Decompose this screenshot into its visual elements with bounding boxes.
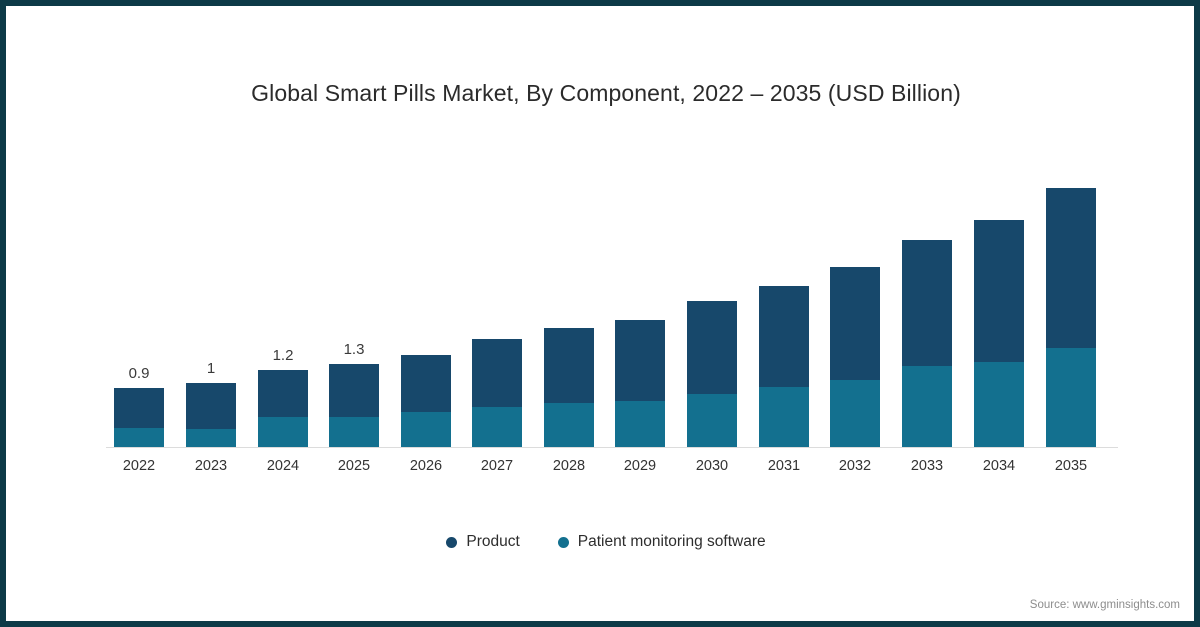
x-tick-label-2024: 2024: [247, 458, 319, 474]
bar-segment-patient-monitoring-software[interactable]: [1046, 348, 1096, 448]
stacked-bar[interactable]: [329, 364, 379, 448]
stacked-bar[interactable]: [759, 286, 809, 448]
x-tick-label-2034: 2034: [963, 458, 1035, 474]
stacked-bar[interactable]: [1046, 188, 1096, 448]
bar-segment-patient-monitoring-software[interactable]: [902, 366, 952, 448]
bar-segment-patient-monitoring-software[interactable]: [472, 407, 522, 448]
bar-value-label: 1.2: [242, 347, 324, 364]
bar-segment-patient-monitoring-software[interactable]: [329, 417, 379, 448]
x-tick-label-2029: 2029: [604, 458, 676, 474]
plot-area: 0.911.21.3: [106, 126, 1116, 448]
x-tick-label-2022: 2022: [103, 458, 175, 474]
x-tick-label-2033: 2033: [891, 458, 963, 474]
bar-segment-patient-monitoring-software[interactable]: [974, 362, 1024, 448]
x-tick-label-2035: 2035: [1035, 458, 1107, 474]
bar-segment-product[interactable]: [974, 220, 1024, 362]
chart-frame: Global Smart Pills Market, By Component,…: [0, 0, 1200, 627]
x-tick-label-2032: 2032: [819, 458, 891, 474]
legend-dot-icon: [558, 537, 569, 548]
bar-segment-patient-monitoring-software[interactable]: [830, 380, 880, 448]
bar-segment-patient-monitoring-software[interactable]: [186, 429, 236, 448]
bar-segment-product[interactable]: [401, 355, 451, 412]
stacked-bar[interactable]: [472, 339, 522, 448]
stacked-bar[interactable]: [902, 240, 952, 448]
x-tick-label-2023: 2023: [175, 458, 247, 474]
stacked-bar[interactable]: [544, 328, 594, 448]
legend-dot-icon: [446, 537, 457, 548]
x-tick-label-2028: 2028: [533, 458, 605, 474]
x-tick-label-2031: 2031: [748, 458, 820, 474]
bar-segment-product[interactable]: [615, 320, 665, 401]
page-title: Global Smart Pills Market, By Component,…: [6, 80, 1200, 107]
bar-segment-product[interactable]: [1046, 188, 1096, 348]
bar-value-label: 1: [170, 360, 252, 377]
x-axis-labels: 2022202320242025202620272028202920302031…: [106, 458, 1116, 482]
stacked-bar[interactable]: [974, 220, 1024, 448]
bar-segment-product[interactable]: [759, 286, 809, 387]
stacked-bar[interactable]: [401, 355, 451, 448]
bar-segment-product[interactable]: [114, 388, 164, 428]
bar-segment-product[interactable]: [258, 370, 308, 417]
x-tick-label-2027: 2027: [461, 458, 533, 474]
bar-segment-product[interactable]: [186, 383, 236, 429]
x-tick-label-2030: 2030: [676, 458, 748, 474]
bar-segment-product[interactable]: [329, 364, 379, 417]
bar-segment-product[interactable]: [902, 240, 952, 366]
stacked-bar[interactable]: [615, 320, 665, 448]
legend-item-product[interactable]: Product: [446, 533, 519, 551]
bar-value-label: 1.3: [313, 341, 395, 358]
bar-segment-product[interactable]: [830, 267, 880, 380]
x-tick-label-2025: 2025: [318, 458, 390, 474]
bar-segment-patient-monitoring-software[interactable]: [544, 403, 594, 448]
chart-legend: ProductPatient monitoring software: [6, 533, 1200, 551]
bar-segment-product[interactable]: [472, 339, 522, 407]
bar-segment-patient-monitoring-software[interactable]: [759, 387, 809, 448]
bar-segment-product[interactable]: [687, 301, 737, 394]
stacked-bar[interactable]: [114, 388, 164, 448]
bar-segment-patient-monitoring-software[interactable]: [401, 412, 451, 448]
stacked-bar[interactable]: [258, 370, 308, 448]
bar-segment-product[interactable]: [544, 328, 594, 403]
x-tick-label-2026: 2026: [390, 458, 462, 474]
stacked-bar[interactable]: [830, 267, 880, 448]
bar-segment-patient-monitoring-software[interactable]: [114, 428, 164, 448]
bar-value-label: 0.9: [98, 365, 180, 382]
stacked-bar[interactable]: [687, 301, 737, 448]
stacked-bar[interactable]: [186, 383, 236, 448]
legend-label: Patient monitoring software: [578, 533, 766, 551]
legend-item-patient-monitoring-software[interactable]: Patient monitoring software: [558, 533, 766, 551]
x-axis-line: [106, 447, 1118, 448]
legend-label: Product: [466, 533, 519, 551]
bar-segment-patient-monitoring-software[interactable]: [687, 394, 737, 448]
bar-segment-patient-monitoring-software[interactable]: [258, 417, 308, 448]
source-note: Source: www.gminsights.com: [1030, 599, 1180, 611]
bar-segment-patient-monitoring-software[interactable]: [615, 401, 665, 448]
